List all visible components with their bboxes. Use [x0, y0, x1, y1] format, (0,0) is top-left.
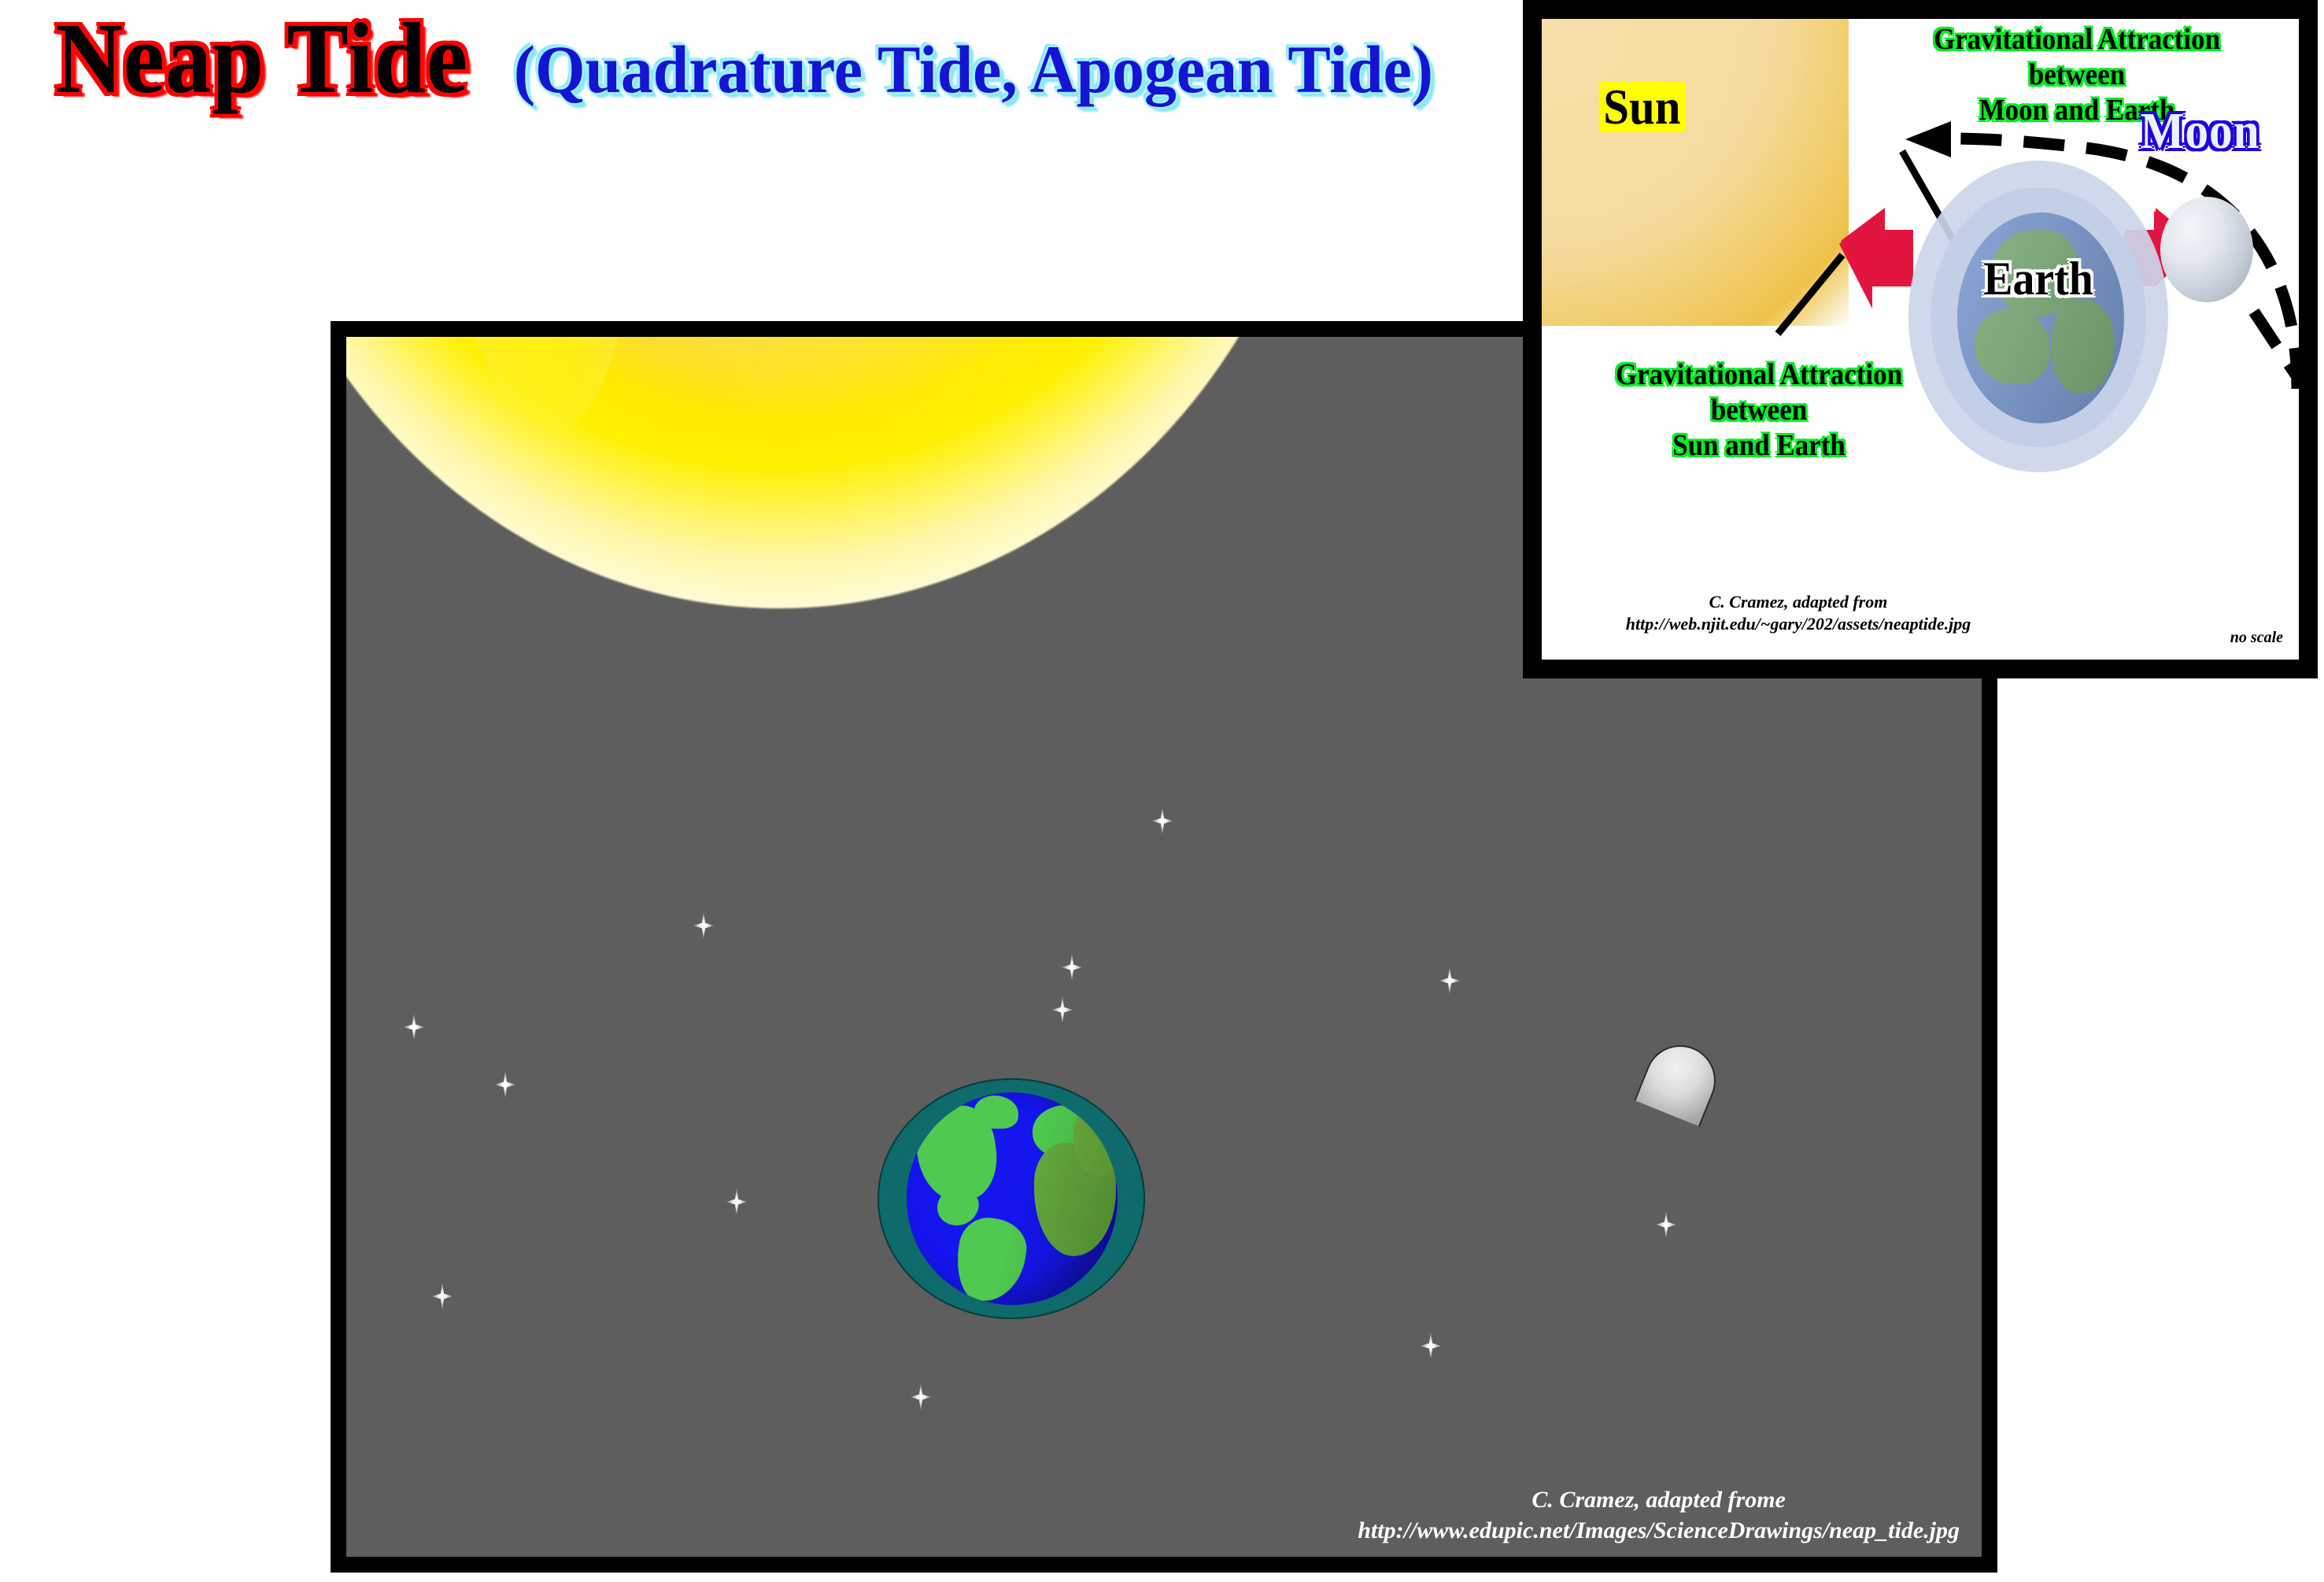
main-credit-line-2: http://www.edupic.net/Images/ScienceDraw…: [1358, 1516, 1960, 1546]
inset-moon-body: [2160, 197, 2253, 302]
star-icon: [1656, 1211, 1676, 1238]
inset-earth-shading: [1957, 213, 2124, 423]
earth-body: [907, 1092, 1118, 1305]
star-icon: [404, 1014, 424, 1040]
star-icon: [1439, 967, 1460, 994]
leader-line-sun-earth: [1778, 255, 1842, 334]
star-icon: [1421, 1333, 1441, 1359]
inset-earth-label: Earth: [1983, 255, 2093, 302]
star-icon: [495, 1071, 515, 1098]
star-icon: [726, 1188, 747, 1215]
star-icon: [1152, 808, 1173, 834]
inset-credit: C. Cramez, adapted from http://web.njit.…: [1617, 591, 1979, 636]
page-title: Neap Tide: [56, 8, 468, 109]
earth-shading: [907, 1092, 1118, 1305]
page-subtitle: (Quadrature Tide, Apogean Tide): [514, 35, 1433, 103]
star-icon: [432, 1283, 453, 1310]
star-icon: [911, 1384, 931, 1410]
main-credit: C. Cramez, adapted frome http://www.edup…: [1358, 1485, 1960, 1546]
inset-credit-line-1: C. Cramez, adapted from: [1617, 591, 1979, 614]
orbit-arrowhead-icon: [1905, 121, 1951, 157]
inset-earth-body: [1957, 213, 2124, 423]
inset-moon-label: Moon: [2140, 105, 2259, 157]
inset-scale-note: no scale: [2230, 629, 2283, 647]
moon-body: [1634, 1034, 1726, 1126]
star-icon: [1052, 996, 1073, 1023]
force-arrow-sun: [1839, 208, 1913, 309]
moon-lit-half: [1634, 1034, 1726, 1126]
main-credit-line-1: C. Cramez, adapted frome: [1358, 1485, 1960, 1515]
star-icon: [1062, 954, 1082, 981]
title-block: Neap Tide (Quadrature Tide, Apogean Tide…: [0, 8, 1495, 109]
inset-credit-line-2: http://web.njit.edu/~gary/202/assets/nea…: [1617, 613, 1979, 636]
star-icon: [693, 912, 714, 939]
inset-diagram: Sun Gravitational Attraction between Moo…: [1542, 19, 2299, 660]
inset-diagram-frame: Sun Gravitational Attraction between Moo…: [1523, 0, 2318, 678]
